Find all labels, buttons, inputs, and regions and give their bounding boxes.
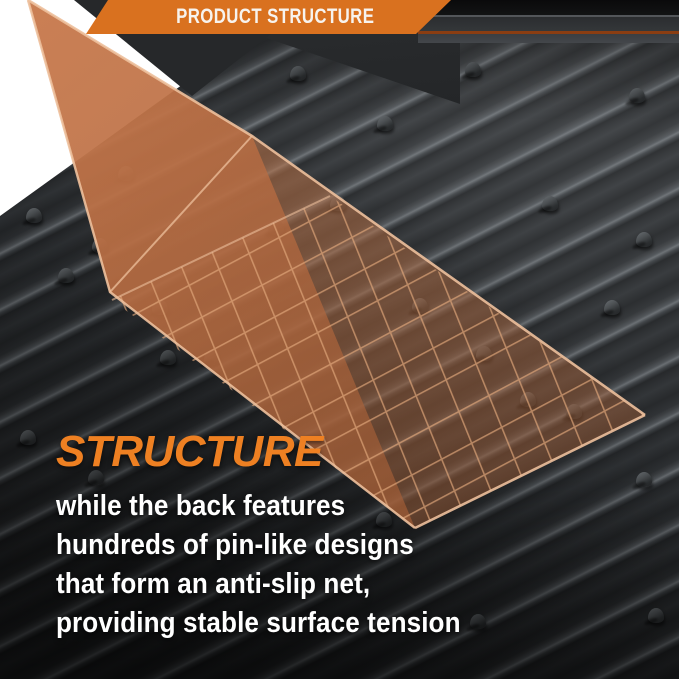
body-copy-line: that form an anti-slip net,	[56, 565, 560, 604]
headline-structure: STRUCTURE	[56, 430, 616, 474]
product-structure-infographic: PRODUCT STRUCTURE STRUCTURE while the ba…	[0, 0, 679, 679]
top-bar-upper	[418, 0, 679, 15]
body-copy-line: hundreds of pin-like designs	[56, 526, 560, 565]
copy-block: STRUCTURE while the back featureshundred…	[56, 430, 616, 642]
banner-label: PRODUCT STRUCTURE	[163, 5, 374, 29]
top-bar-middle	[418, 17, 679, 31]
top-bar-lower	[418, 34, 679, 43]
body-copy-line: while the back features	[56, 487, 560, 526]
product-structure-banner: PRODUCT STRUCTURE	[86, 0, 451, 34]
body-copy: while the back featureshundreds of pin-l…	[56, 487, 616, 642]
body-copy-line: providing stable surface tension	[56, 604, 560, 643]
